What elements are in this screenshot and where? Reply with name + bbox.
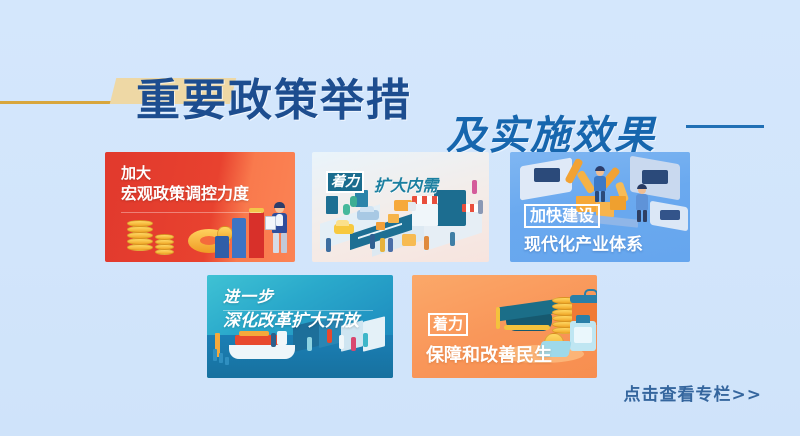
machine-right-screen	[642, 170, 668, 184]
card5-line2: 保障和改善民生	[426, 341, 552, 367]
card-deepen-reform-opening-up[interactable]: 进一步 深化改革扩大开放	[207, 275, 393, 378]
card4-line1: 进一步	[223, 287, 359, 307]
card2-tag-rest: 扩大内需	[374, 172, 438, 196]
card2-tag-box: 着力	[326, 171, 364, 193]
bar-red-tall	[249, 210, 264, 258]
card5-line1-group: 着力	[428, 313, 468, 336]
ship-hull-icon	[229, 345, 295, 359]
machine-left-screen	[534, 168, 560, 182]
person-icon-4	[380, 238, 385, 252]
quay-bar-3	[225, 357, 229, 365]
view-column-link[interactable]: 点击查看专栏>>	[624, 380, 763, 405]
card1-line1: 加大	[121, 164, 249, 182]
card4-text: 进一步 深化改革扩大开放	[223, 287, 359, 331]
card3-line1: 加快建设	[524, 204, 600, 228]
quay-bar-1	[213, 349, 217, 361]
card-modern-industrial-system[interactable]: 加快建设 现代化产业体系	[510, 152, 690, 262]
card-safeguard-improve-livelihood[interactable]: 着力 保障和改善民生	[412, 275, 597, 378]
person-icon-d	[351, 337, 356, 351]
box-icon-3	[610, 196, 626, 210]
coin-stack-tall-icon	[127, 220, 155, 254]
billboard-left	[326, 196, 338, 214]
tree-icon-2	[350, 196, 357, 207]
toolbox-handle-icon	[584, 289, 597, 297]
title-blue-rule	[686, 125, 764, 128]
card4-line2: 深化改革扩大开放	[223, 311, 359, 332]
banner-page: 重要政策举措 及实施效果	[0, 0, 800, 436]
worker-icon-2	[634, 186, 650, 222]
truck-cab	[408, 202, 416, 211]
medicine-bottle-label	[574, 327, 592, 343]
car-yellow-roof	[336, 220, 349, 226]
card-expand-domestic-demand[interactable]: 着力 扩大内需	[312, 152, 489, 262]
parcel-icon-1	[388, 214, 399, 223]
card5-line1-char1: 着力	[428, 313, 468, 336]
title-area: 重要政策举措 及实施效果	[0, 26, 800, 136]
person-icon-2	[478, 200, 483, 214]
person-icon-8	[450, 232, 455, 246]
person-icon-6	[326, 238, 331, 252]
medicine-bottle-cap	[576, 315, 590, 323]
parcel-icon-3	[376, 222, 385, 230]
page-title-line1: 重要政策举措	[136, 64, 412, 128]
ship-containers-top	[239, 331, 269, 336]
graduation-cap-band	[504, 325, 550, 330]
person-icon-c	[339, 335, 344, 349]
parcel-icon-2	[402, 234, 416, 246]
card1-separator	[121, 212, 261, 213]
quay-bar-2	[219, 353, 223, 363]
person-icon-f	[307, 337, 312, 351]
card2-illustration	[312, 152, 489, 262]
card1-line2: 宏观政策调控力度	[121, 184, 249, 204]
worker-icon-1	[592, 168, 608, 202]
tree-icon-1	[343, 204, 350, 215]
card3-line2: 现代化产业体系	[524, 230, 643, 255]
person-icon-3	[370, 234, 375, 249]
person-icon-7	[424, 236, 429, 250]
ship-bridge-icon	[277, 331, 287, 345]
person-icon-a	[271, 333, 276, 347]
machine-lower-screen	[660, 210, 680, 220]
card1-text: 加大 宏观政策调控力度	[121, 164, 249, 204]
person-analyst-icon	[269, 204, 291, 256]
bar-blue-tall	[232, 218, 246, 258]
person-icon-5	[388, 238, 393, 252]
coin-stack-short-icon	[155, 234, 176, 256]
graduation-cap-tassel	[496, 307, 500, 329]
card-macro-policy-regulation[interactable]: 加大 宏观政策调控力度	[105, 152, 295, 262]
person-icon-1	[472, 180, 477, 194]
person-icon-e	[363, 333, 368, 347]
bar-blue-short	[215, 236, 229, 258]
